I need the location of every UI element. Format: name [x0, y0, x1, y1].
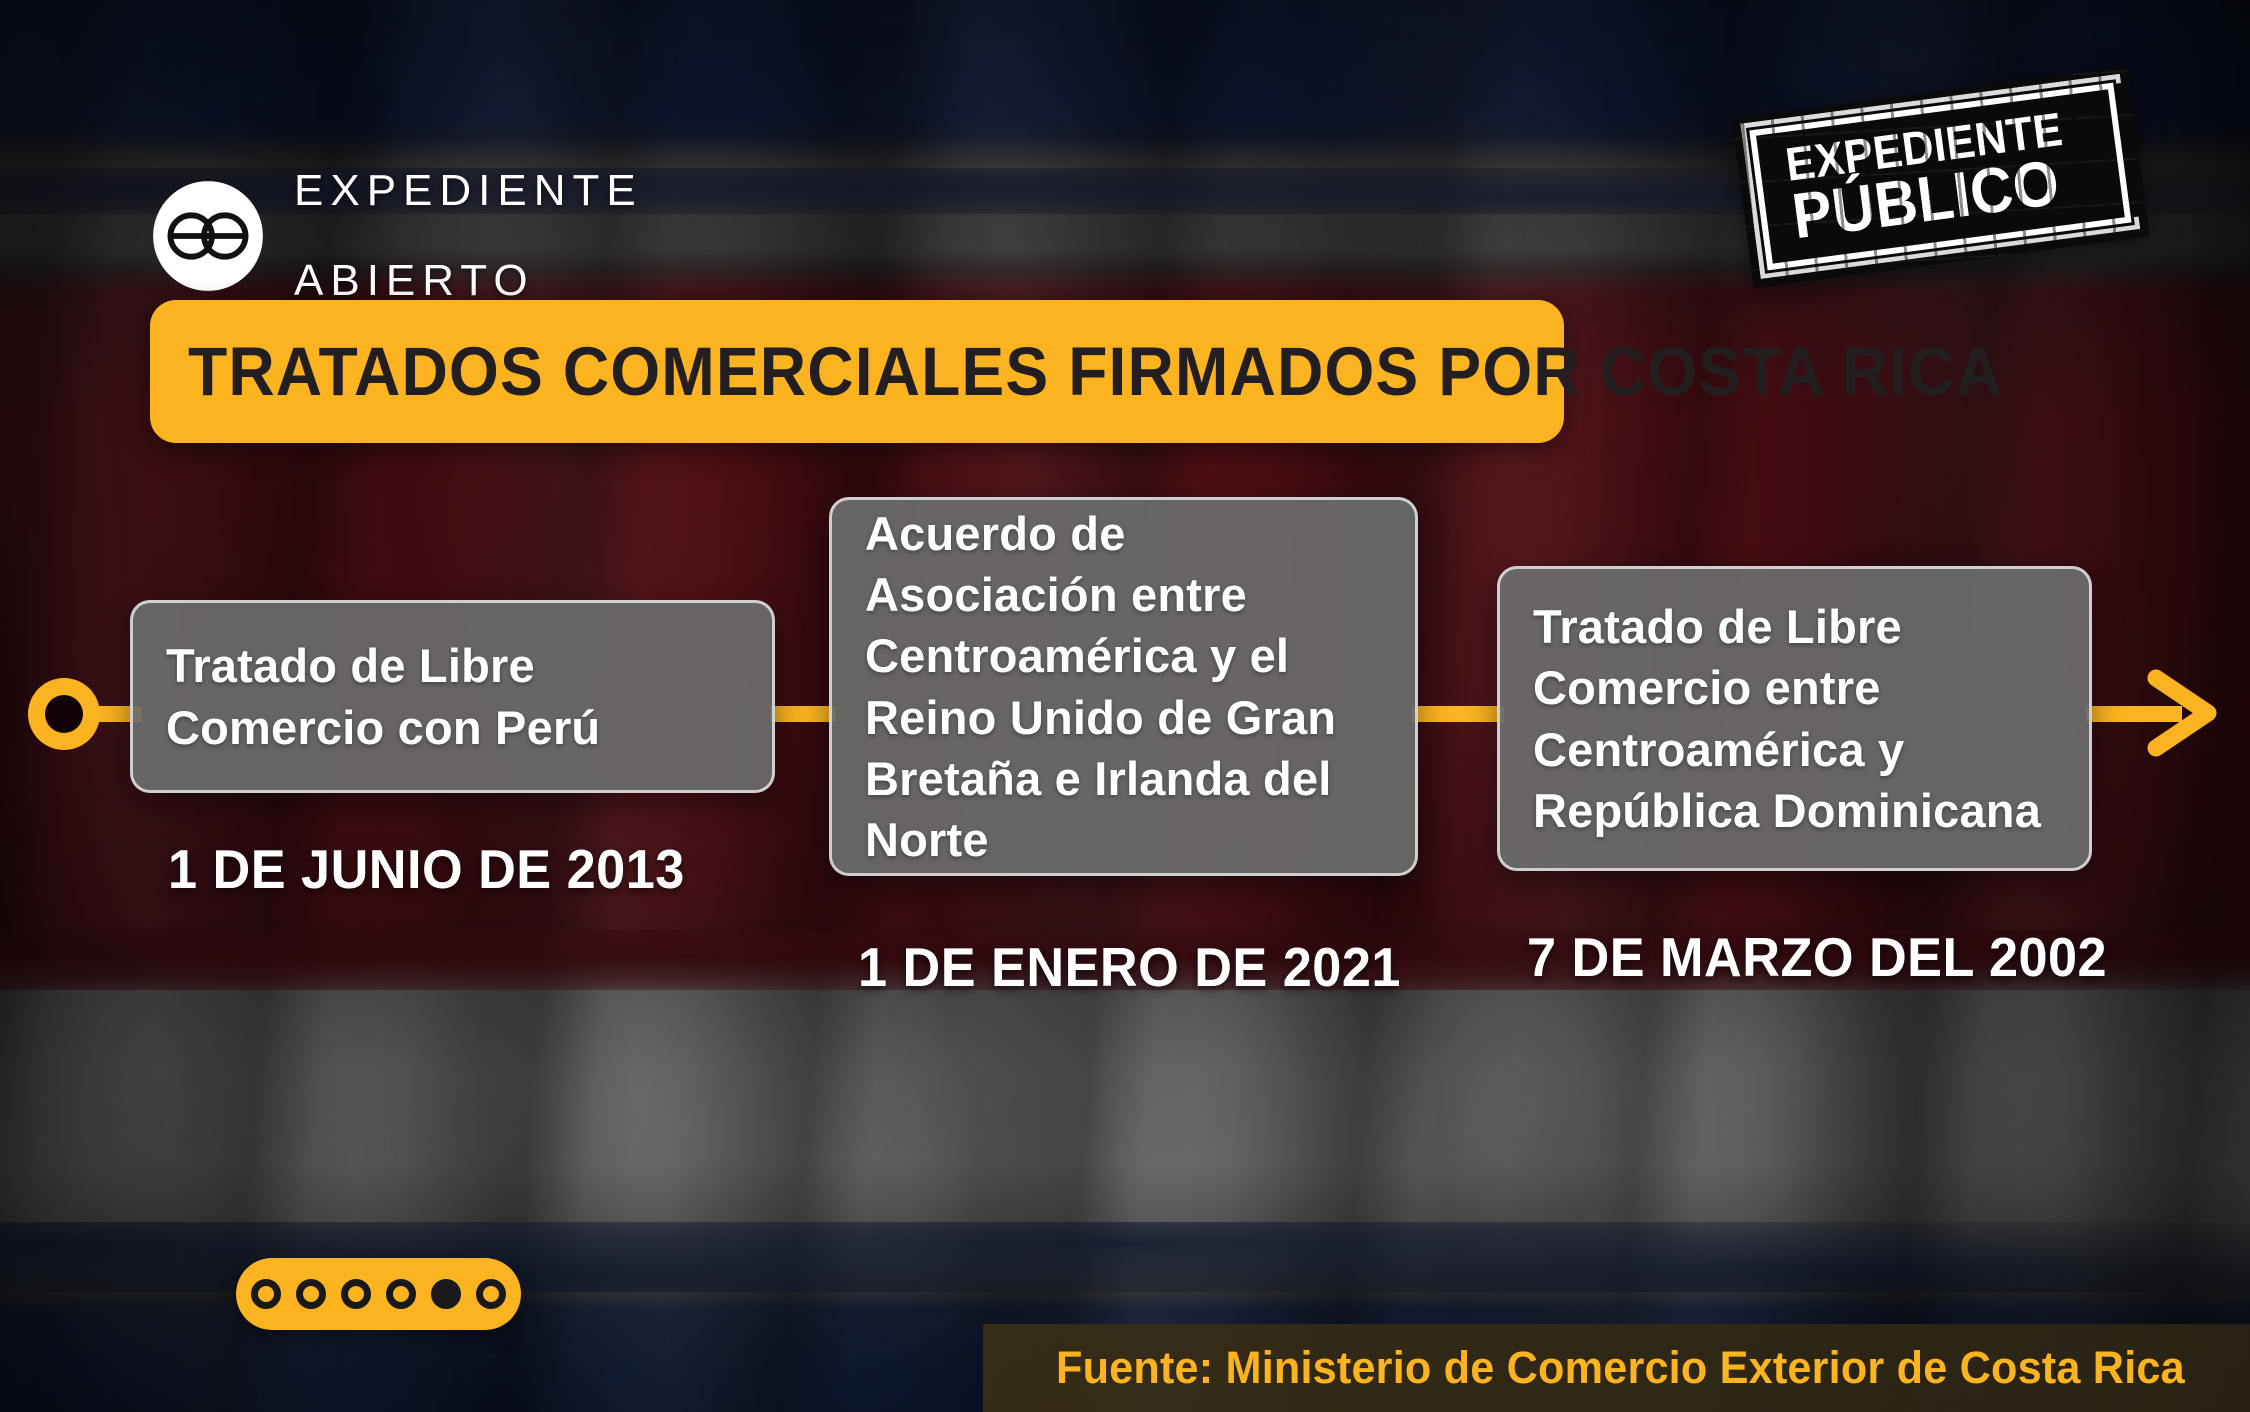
timeline-card-3[interactable]: Tratado de Libre Comercio entre Centroam… — [1497, 566, 2092, 871]
timeline-start-dot-icon — [28, 678, 100, 750]
timeline-card-1[interactable]: Tratado de Libre Comercio con Perú — [130, 600, 775, 793]
pagination-dot-1[interactable] — [251, 1279, 281, 1309]
timeline: Tratado de Libre Comercio con Perú Acuer… — [0, 0, 2250, 1412]
pagination[interactable] — [236, 1258, 521, 1330]
timeline-card-3-title: Tratado de Libre Comercio entre Centroam… — [1500, 596, 2089, 840]
timeline-date-1: 1 DE JUNIO DE 2013 — [168, 842, 685, 897]
timeline-connector-2 — [1412, 706, 1504, 722]
timeline-card-2-title: Acuerdo de Asociación entre Centroaméric… — [832, 503, 1415, 870]
source-text: Fuente: Ministerio de Comercio Exterior … — [1056, 1342, 2185, 1394]
pagination-dot-5-active[interactable] — [431, 1279, 461, 1309]
timeline-date-3: 7 DE MARZO DEL 2002 — [1527, 930, 2107, 985]
arrow-right-icon — [2136, 660, 2232, 766]
timeline-card-1-title: Tratado de Libre Comercio con Perú — [133, 635, 772, 757]
timeline-date-2: 1 DE ENERO DE 2021 — [858, 940, 1401, 995]
pagination-dot-4[interactable] — [386, 1279, 416, 1309]
timeline-card-2[interactable]: Acuerdo de Asociación entre Centroaméric… — [829, 497, 1418, 876]
timeline-connector-1 — [770, 706, 835, 722]
infographic-canvas: EXPEDIENTE ABIERTO EXPEDIENTE PÚBLICO TR… — [0, 0, 2250, 1412]
pagination-dot-2[interactable] — [296, 1279, 326, 1309]
pagination-dot-6[interactable] — [476, 1279, 506, 1309]
pagination-dot-3[interactable] — [341, 1279, 371, 1309]
source-footer: Fuente: Ministerio de Comercio Exterior … — [983, 1324, 2250, 1412]
